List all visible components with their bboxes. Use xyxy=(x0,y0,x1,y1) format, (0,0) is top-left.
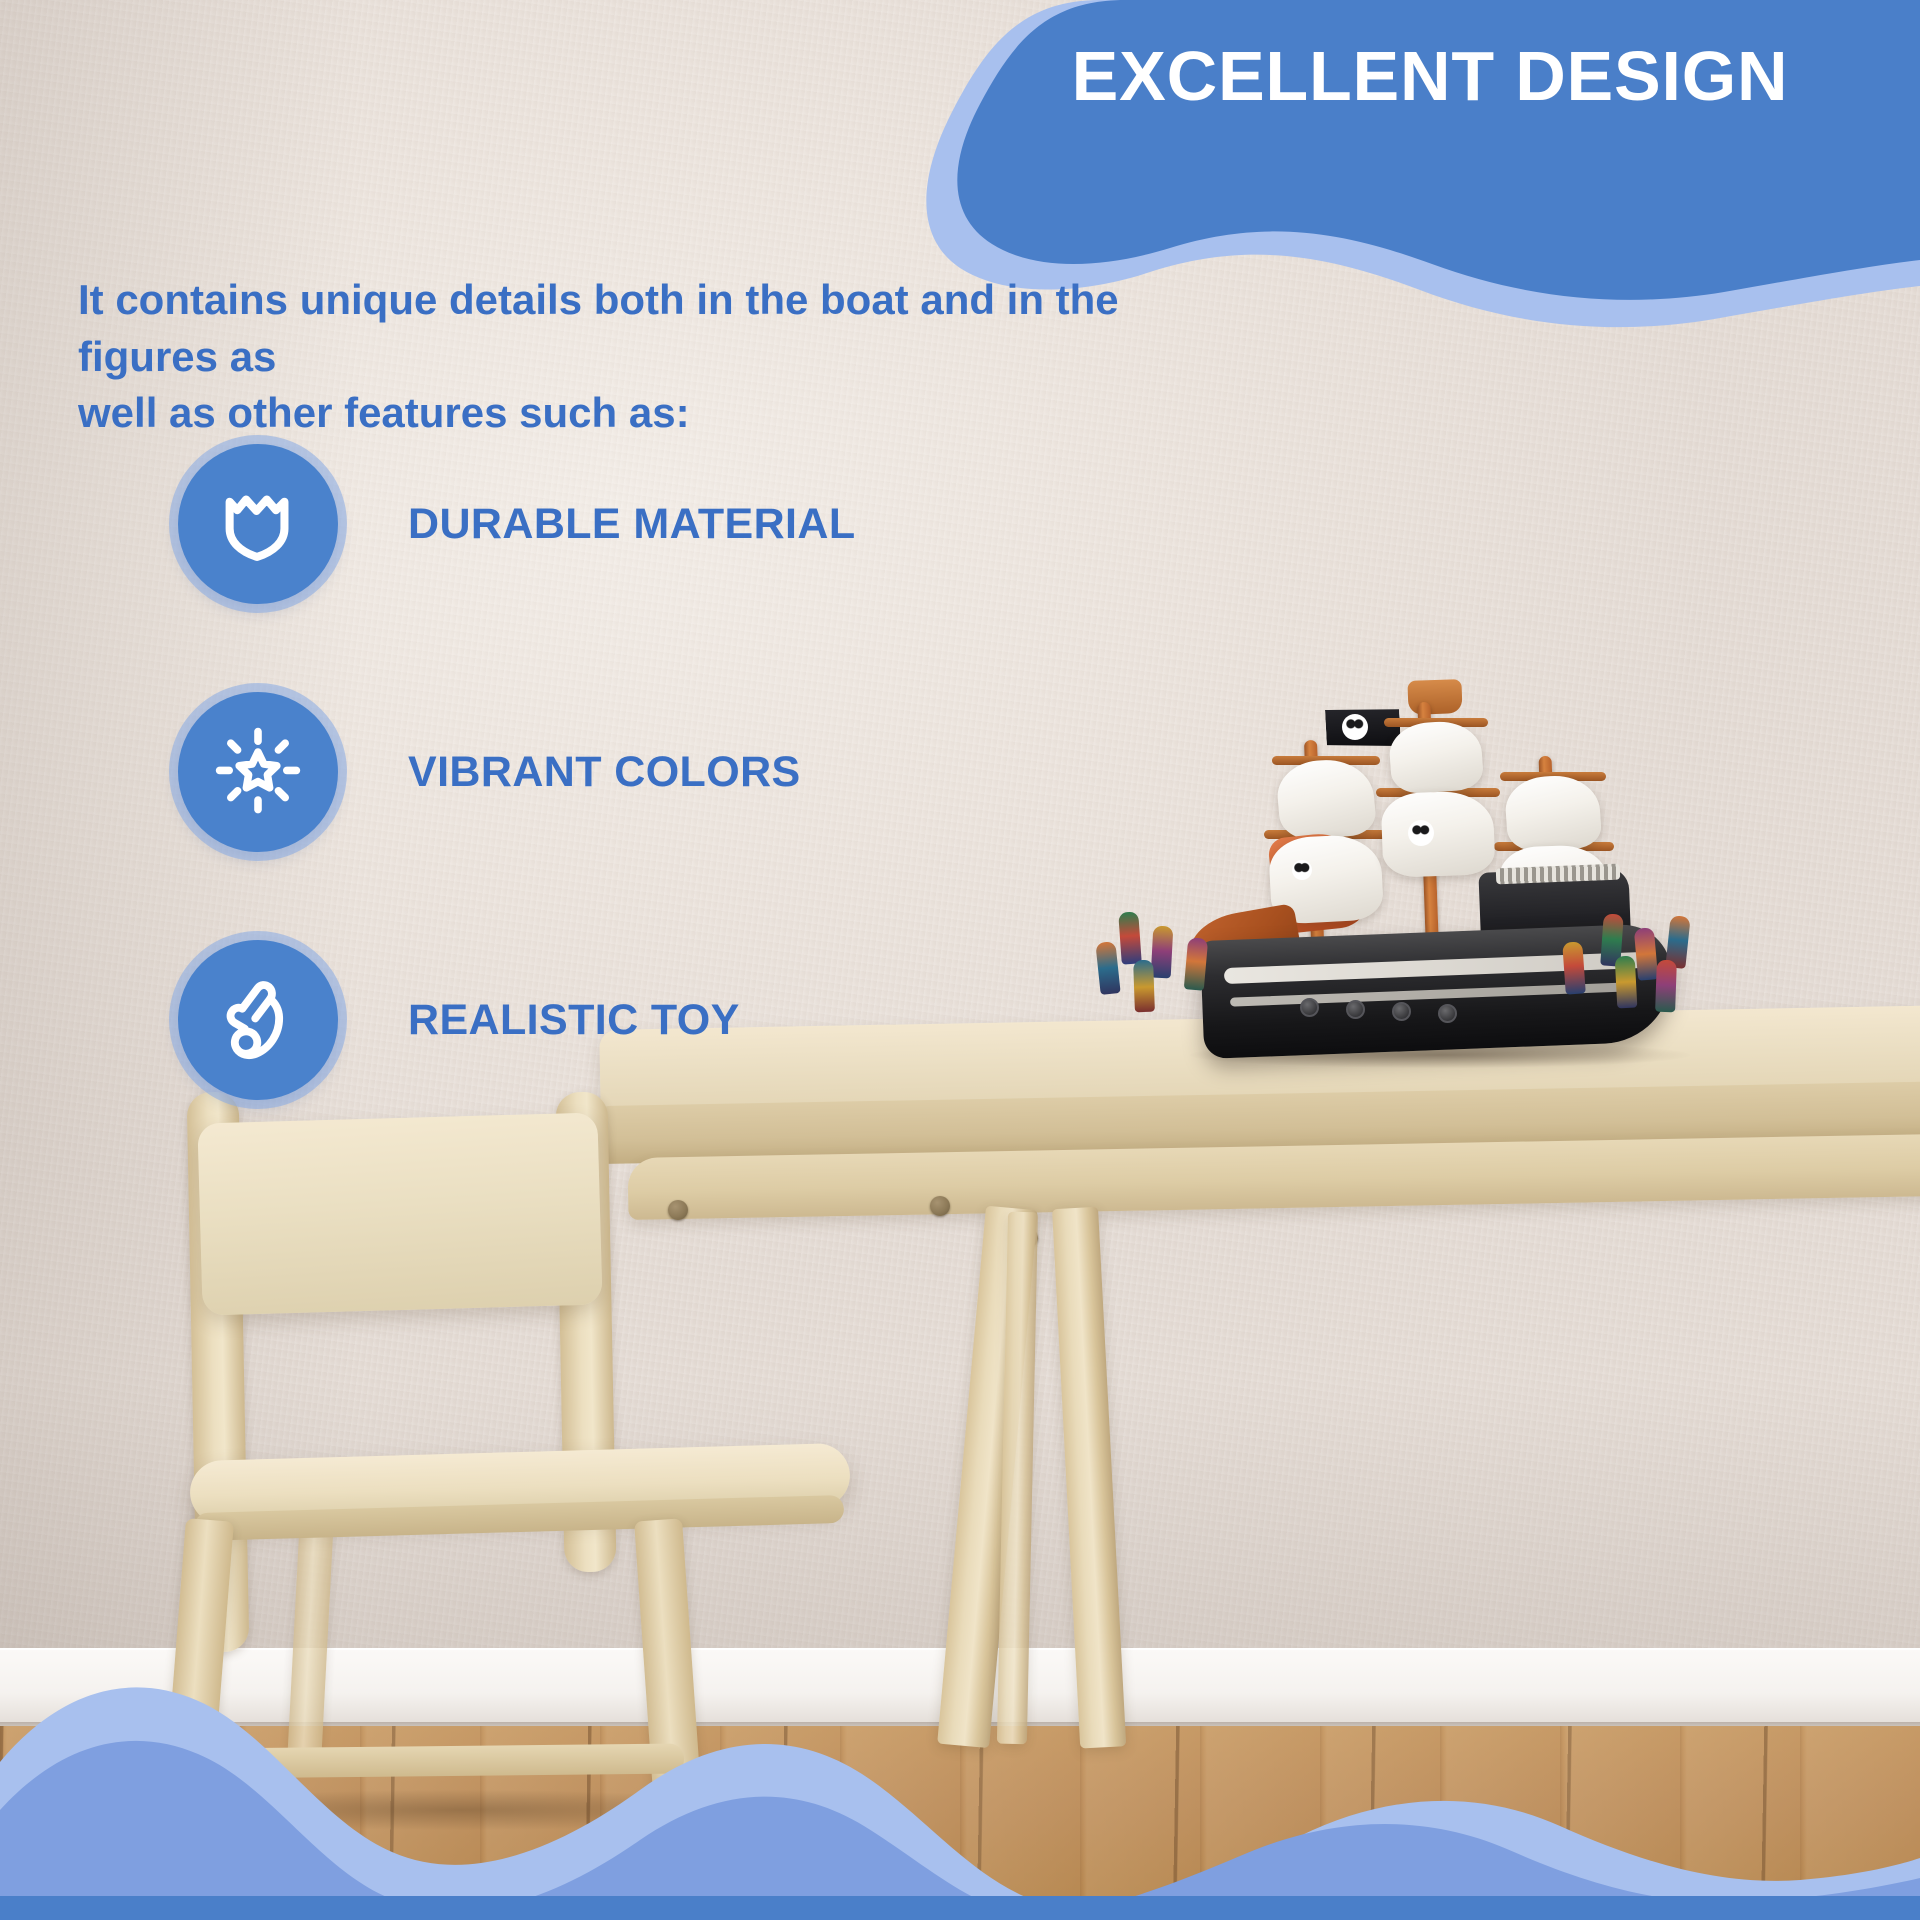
sail-main-lower xyxy=(1381,790,1496,878)
sail-main-upper xyxy=(1388,719,1485,795)
pirate-figure-9 xyxy=(1615,956,1638,1009)
intro-line-2: well as other features such as: xyxy=(78,389,690,436)
infographic-canvas: EXCELLENT DESIGN It contains unique deta… xyxy=(0,0,1920,1920)
intro-paragraph: It contains unique details both in the b… xyxy=(78,272,1218,442)
crows-nest xyxy=(1407,679,1462,715)
ok-hand-icon xyxy=(211,973,305,1067)
skull-emblem-sail-fore xyxy=(1292,860,1312,880)
porthole-2 xyxy=(1346,1000,1365,1019)
page-title: EXCELLENT DESIGN xyxy=(990,40,1870,114)
pirate-figure-11 xyxy=(1562,941,1586,994)
feature-icon-badge xyxy=(178,940,338,1100)
table-screw-2 xyxy=(930,1196,950,1216)
porthole-4 xyxy=(1438,1004,1457,1023)
skull-emblem-sail-main xyxy=(1408,820,1434,846)
sail-fore-upper xyxy=(1275,756,1377,842)
feature-item-realistic-toy: REALISTIC TOY xyxy=(178,936,1178,1104)
porthole-3 xyxy=(1392,1002,1411,1021)
table-screw-1 xyxy=(668,1200,688,1220)
feature-label-vibrant-colors: VIBRANT COLORS xyxy=(408,748,801,797)
shield-icon xyxy=(212,478,304,570)
sail-aft-upper xyxy=(1504,773,1603,853)
feature-icon-badge xyxy=(178,692,338,852)
feature-item-vibrant-colors: VIBRANT COLORS xyxy=(178,688,1178,856)
skull-emblem-flag xyxy=(1342,714,1368,740)
intro-line-1: It contains unique details both in the b… xyxy=(78,276,1119,380)
feature-icon-badge xyxy=(178,444,338,604)
chair-stretcher xyxy=(214,1744,684,1779)
feature-item-durable-material: DURABLE MATERIAL xyxy=(178,440,1178,608)
feature-list: DURABLE MATERIAL xyxy=(178,440,1178,1184)
pirate-figure-7 xyxy=(1634,927,1658,981)
pirate-figure-10 xyxy=(1655,960,1677,1013)
porthole-1 xyxy=(1300,998,1319,1017)
feature-label-realistic-toy: REALISTIC TOY xyxy=(408,996,740,1045)
sparkle-star-icon xyxy=(210,724,306,820)
pirate-ship-toy xyxy=(1150,660,1770,1100)
feature-label-durable-material: DURABLE MATERIAL xyxy=(408,500,856,549)
